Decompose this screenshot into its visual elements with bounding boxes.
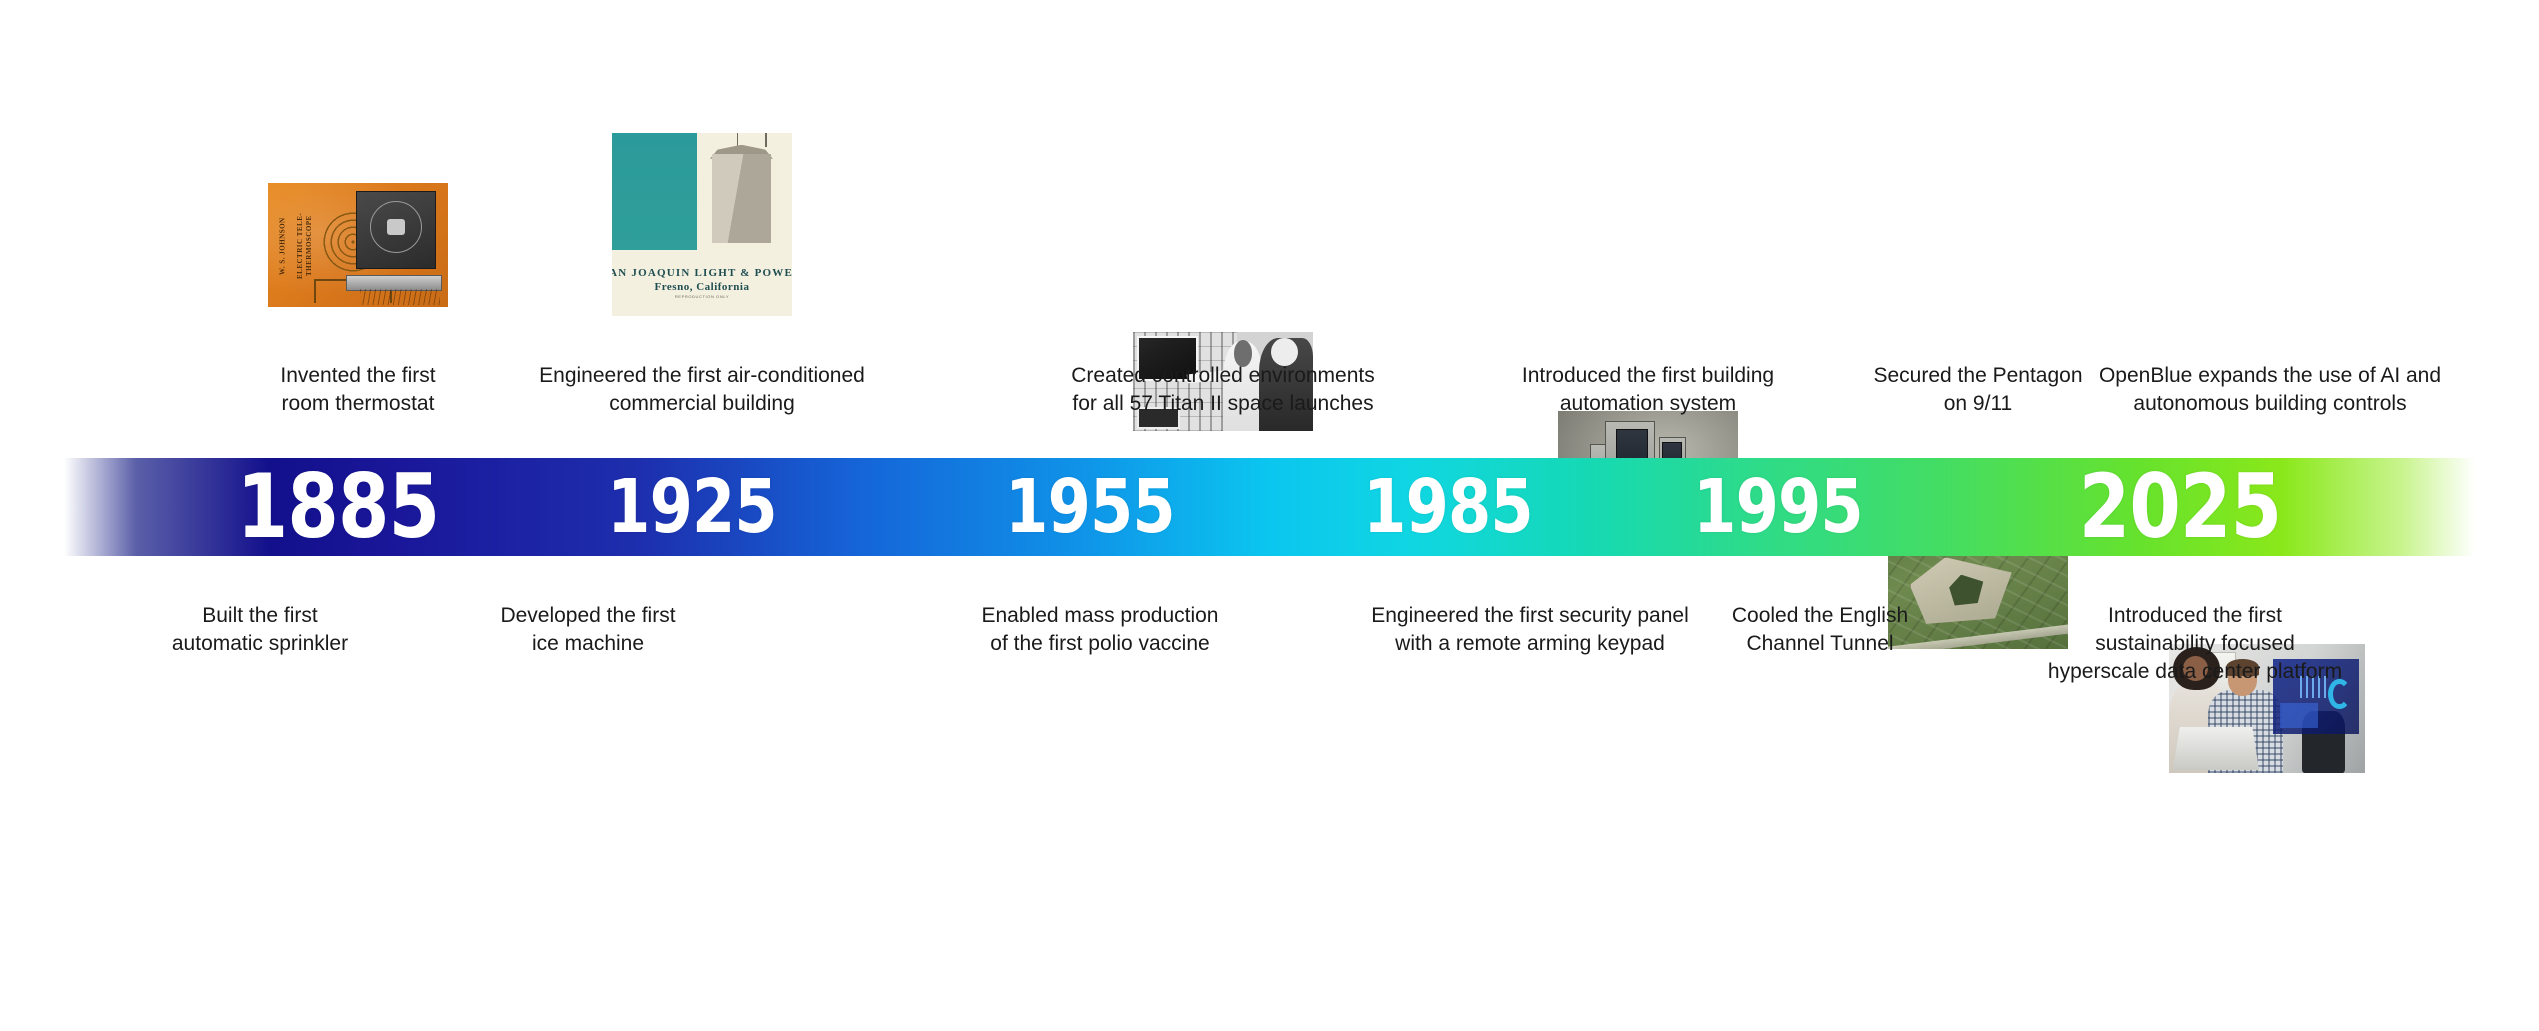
patent-inventor-text: W. S. JOHNSON (272, 191, 294, 301)
poster-cream-panel (697, 133, 792, 250)
poster-mast-right (765, 133, 767, 147)
poster-line-2: Fresno, California (655, 281, 750, 293)
timeline-year-1985[interactable]: 1985 (1339, 455, 1557, 559)
milestone-caption-1925-bottom: Developed the first ice machine (428, 602, 748, 658)
poster-teal-panel (612, 133, 697, 250)
timeline-year-1925[interactable]: 1925 (583, 455, 801, 559)
milestone-caption-1995-top: Secured the Pentagon on 9/11 (1838, 362, 2118, 418)
timeline-year-1885[interactable]: 1885 (229, 455, 447, 559)
milestone-caption-2025-bottom: Introduced the first sustainability focu… (1960, 602, 2430, 686)
san-joaquin-poster-image: SAN JOAQUIN LIGHT & POWER Fresno, Califo… (612, 133, 792, 316)
timeline-infographic: W. S. JOHNSON ELECTRIC TELE-THERMOSCOPE … (0, 0, 2539, 1031)
milestone-caption-1955-top: Created controlled environments for all … (1033, 362, 1413, 418)
milestone-caption-1885-top: Invented the first room thermostat (198, 362, 518, 418)
thermostat-device-plate (356, 191, 436, 269)
patent-signature (360, 289, 440, 305)
poster-line-3: REPRODUCTION ONLY (675, 294, 729, 299)
milestone-caption-2025-top: OpenBlue expands the use of AI and auton… (2090, 362, 2450, 418)
timeline-year-1955[interactable]: 1955 (981, 455, 1199, 559)
laptop (2173, 727, 2259, 771)
poster-building-illustration (712, 154, 771, 243)
poster-upper (612, 133, 792, 250)
patent-title-text: ELECTRIC TELE-THERMOSCOPE (294, 191, 316, 301)
milestone-caption-1925-top: Engineered the first air-conditioned com… (512, 362, 892, 418)
milestone-caption-1885-bottom: Built the first automatic sprinkler (100, 602, 420, 658)
timeline-year-1995[interactable]: 1995 (1669, 455, 1887, 559)
milestone-caption-1955-bottom: Enabled mass production of the first pol… (880, 602, 1320, 658)
patent-wire-2 (314, 279, 316, 303)
thermostat-patent-image: W. S. JOHNSON ELECTRIC TELE-THERMOSCOPE (268, 183, 448, 307)
poster-mast-left (737, 133, 739, 147)
timeline-year-2025[interactable]: 2025 (2062, 455, 2297, 559)
thermostat-hub (387, 219, 405, 235)
poster-caption-block: SAN JOAQUIN LIGHT & POWER Fresno, Califo… (612, 250, 792, 316)
milestone-caption-1985-top: Introduced the first building automation… (1478, 362, 1818, 418)
dashboard-info-tile (2280, 703, 2318, 728)
poster-line-1: SAN JOAQUIN LIGHT & POWER (612, 267, 792, 279)
